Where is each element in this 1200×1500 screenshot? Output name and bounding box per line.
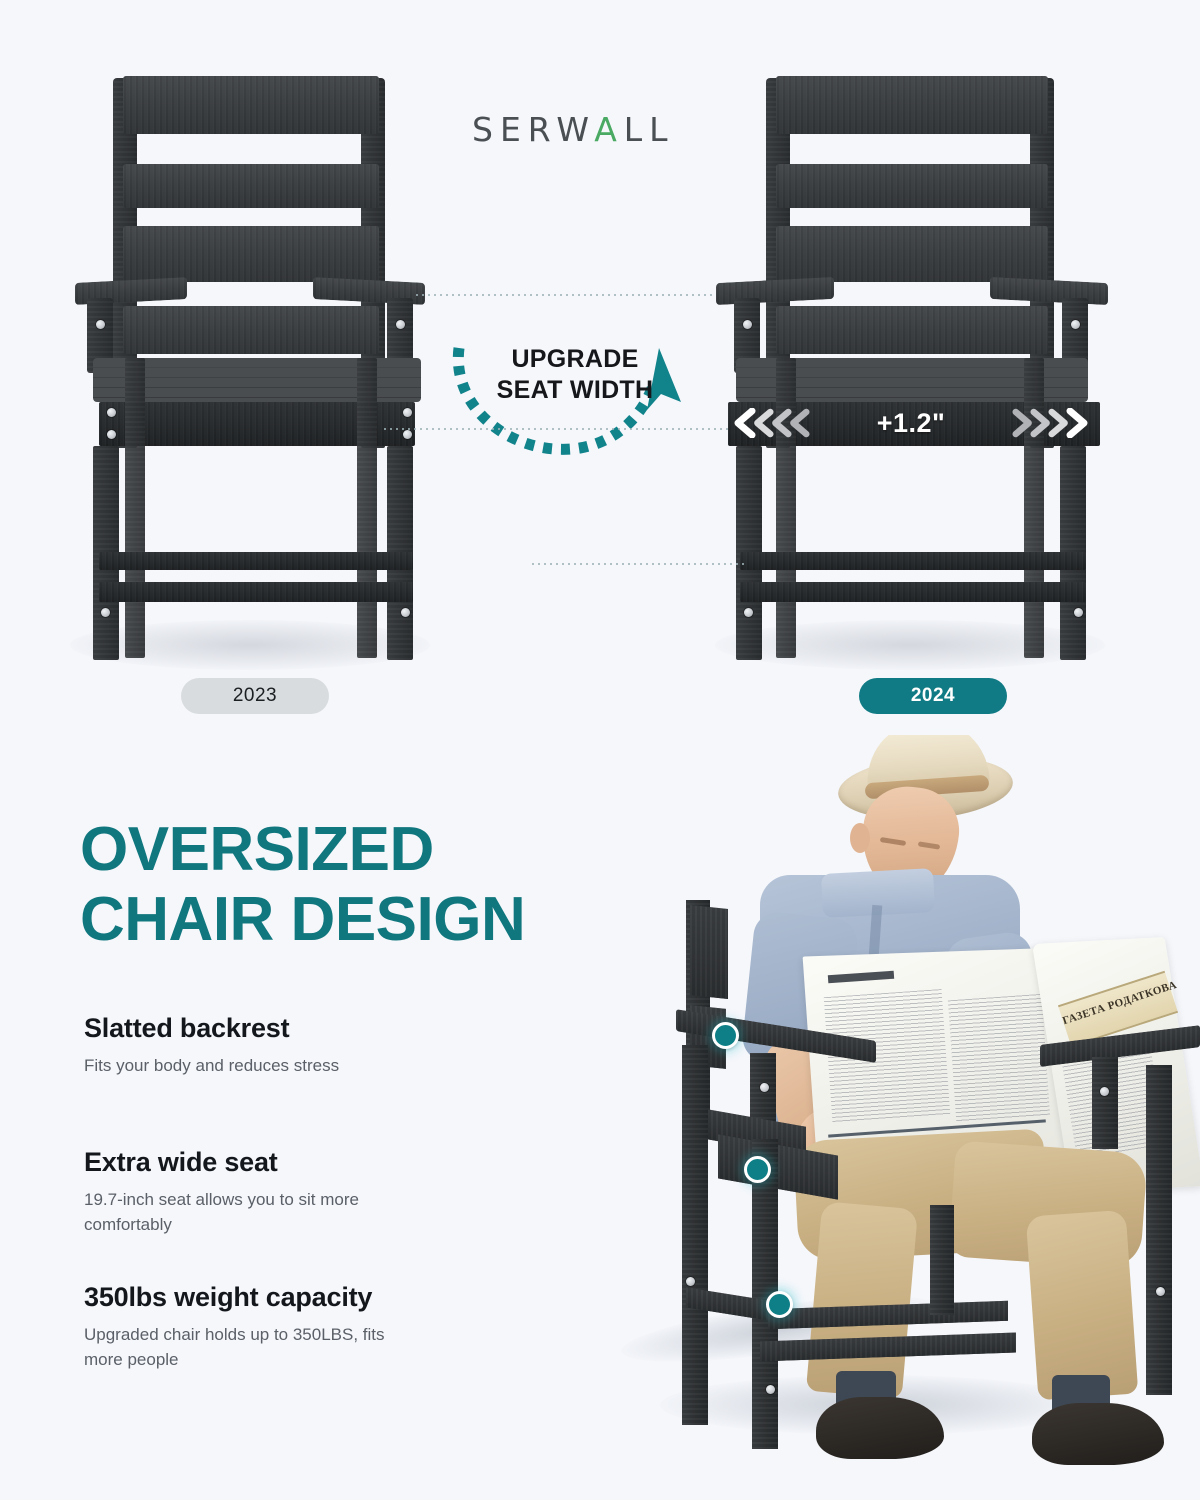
screw-icon (96, 320, 105, 329)
photo-chair-arm-post-right (1092, 1057, 1118, 1149)
screw-icon (401, 608, 410, 617)
headline-line-2: CHAIR DESIGN (80, 885, 640, 955)
trousers-shin (806, 1201, 918, 1399)
feature-connector-line (530, 563, 745, 565)
screw-icon (1071, 320, 1080, 329)
feature-item-slatted-backrest: Slatted backrest Fits your body and redu… (84, 1013, 554, 1078)
chevron-left-group (730, 408, 810, 438)
newspaper-text-columns (948, 994, 1050, 1122)
feature-item-extra-wide-seat: Extra wide seat 19.7-inch seat allows yo… (84, 1147, 554, 1237)
screw-icon (107, 408, 116, 417)
feature-item-weight-capacity: 350lbs weight capacity Upgraded chair ho… (84, 1282, 554, 1372)
feature-description: Fits your body and reduces stress (84, 1053, 414, 1078)
headline-line-1: OVERSIZED (80, 815, 640, 885)
screw-icon (1100, 1087, 1109, 1096)
screw-icon (403, 430, 412, 439)
year-badge-2023-label: 2023 (233, 685, 277, 707)
chair-2024-image (710, 58, 1110, 658)
screw-icon (107, 430, 116, 439)
feature-connector-line (382, 428, 732, 430)
logo-chair-a-icon: A (594, 110, 624, 149)
feature-title: Slatted backrest (84, 1013, 554, 1044)
photo-chair-front-leg-left (682, 1045, 708, 1425)
chevron-right-group (1012, 408, 1092, 438)
screw-icon (686, 1277, 695, 1286)
feature-title: Extra wide seat (84, 1147, 554, 1178)
chevron-left-icon (786, 408, 810, 438)
screw-icon (101, 608, 110, 617)
seat-width-measure-bar: +1.2" (726, 402, 1096, 444)
brand-logo: SERWALL (472, 104, 692, 156)
chevron-right-icon (1066, 408, 1092, 438)
feature-marker-extra-wide-seat[interactable] (744, 1156, 771, 1183)
screw-icon (1156, 1287, 1165, 1296)
photo-chair-center-brace (930, 1205, 954, 1315)
screw-icon (760, 1083, 769, 1092)
comparison-section: +1.2" SERWALL (0, 0, 1200, 735)
logo-text-before: SERW (472, 110, 594, 149)
feature-description: 19.7-inch seat allows you to sit more co… (84, 1187, 414, 1237)
year-badge-2024: 2024 (859, 678, 1007, 714)
trousers-shin (1026, 1210, 1139, 1401)
year-badge-2023: 2023 (181, 678, 329, 714)
feature-connector-line (414, 294, 714, 296)
lifestyle-photo: ГАЗЕТА РОДАТКОВА (600, 735, 1200, 1500)
page-title: OVERSIZED CHAIR DESIGN (80, 815, 640, 955)
screw-icon (744, 608, 753, 617)
ear (850, 823, 870, 853)
feature-marker-slatted-backrest[interactable] (712, 1022, 739, 1049)
logo-text-after: LL (624, 110, 675, 149)
photo-chair-back-slat (690, 905, 728, 999)
upgrade-line-1: UPGRADE (480, 344, 670, 375)
feature-description: Upgraded chair holds up to 350LBS, fits … (84, 1322, 414, 1372)
seat-width-increase-label: +1.2" (877, 408, 946, 439)
chair-2023-image (65, 58, 435, 658)
brand-logo-text: SERWALL (472, 104, 692, 156)
upgrade-annotation: UPGRADE SEAT WIDTH (480, 344, 670, 406)
screw-icon (403, 408, 412, 417)
year-badge-2024-label: 2024 (911, 685, 955, 707)
feature-marker-weight-capacity[interactable] (766, 1291, 793, 1318)
shoe (816, 1397, 944, 1459)
screw-icon (743, 320, 752, 329)
upgrade-line-2: SEAT WIDTH (480, 375, 670, 406)
screw-icon (1074, 608, 1083, 617)
feature-title: 350lbs weight capacity (84, 1282, 554, 1313)
screw-icon (396, 320, 405, 329)
product-infographic-page: +1.2" SERWALL (0, 0, 1200, 1500)
photo-chair-front-leg-right (1146, 1065, 1172, 1395)
screw-icon (766, 1385, 775, 1394)
shoe (1032, 1403, 1164, 1465)
